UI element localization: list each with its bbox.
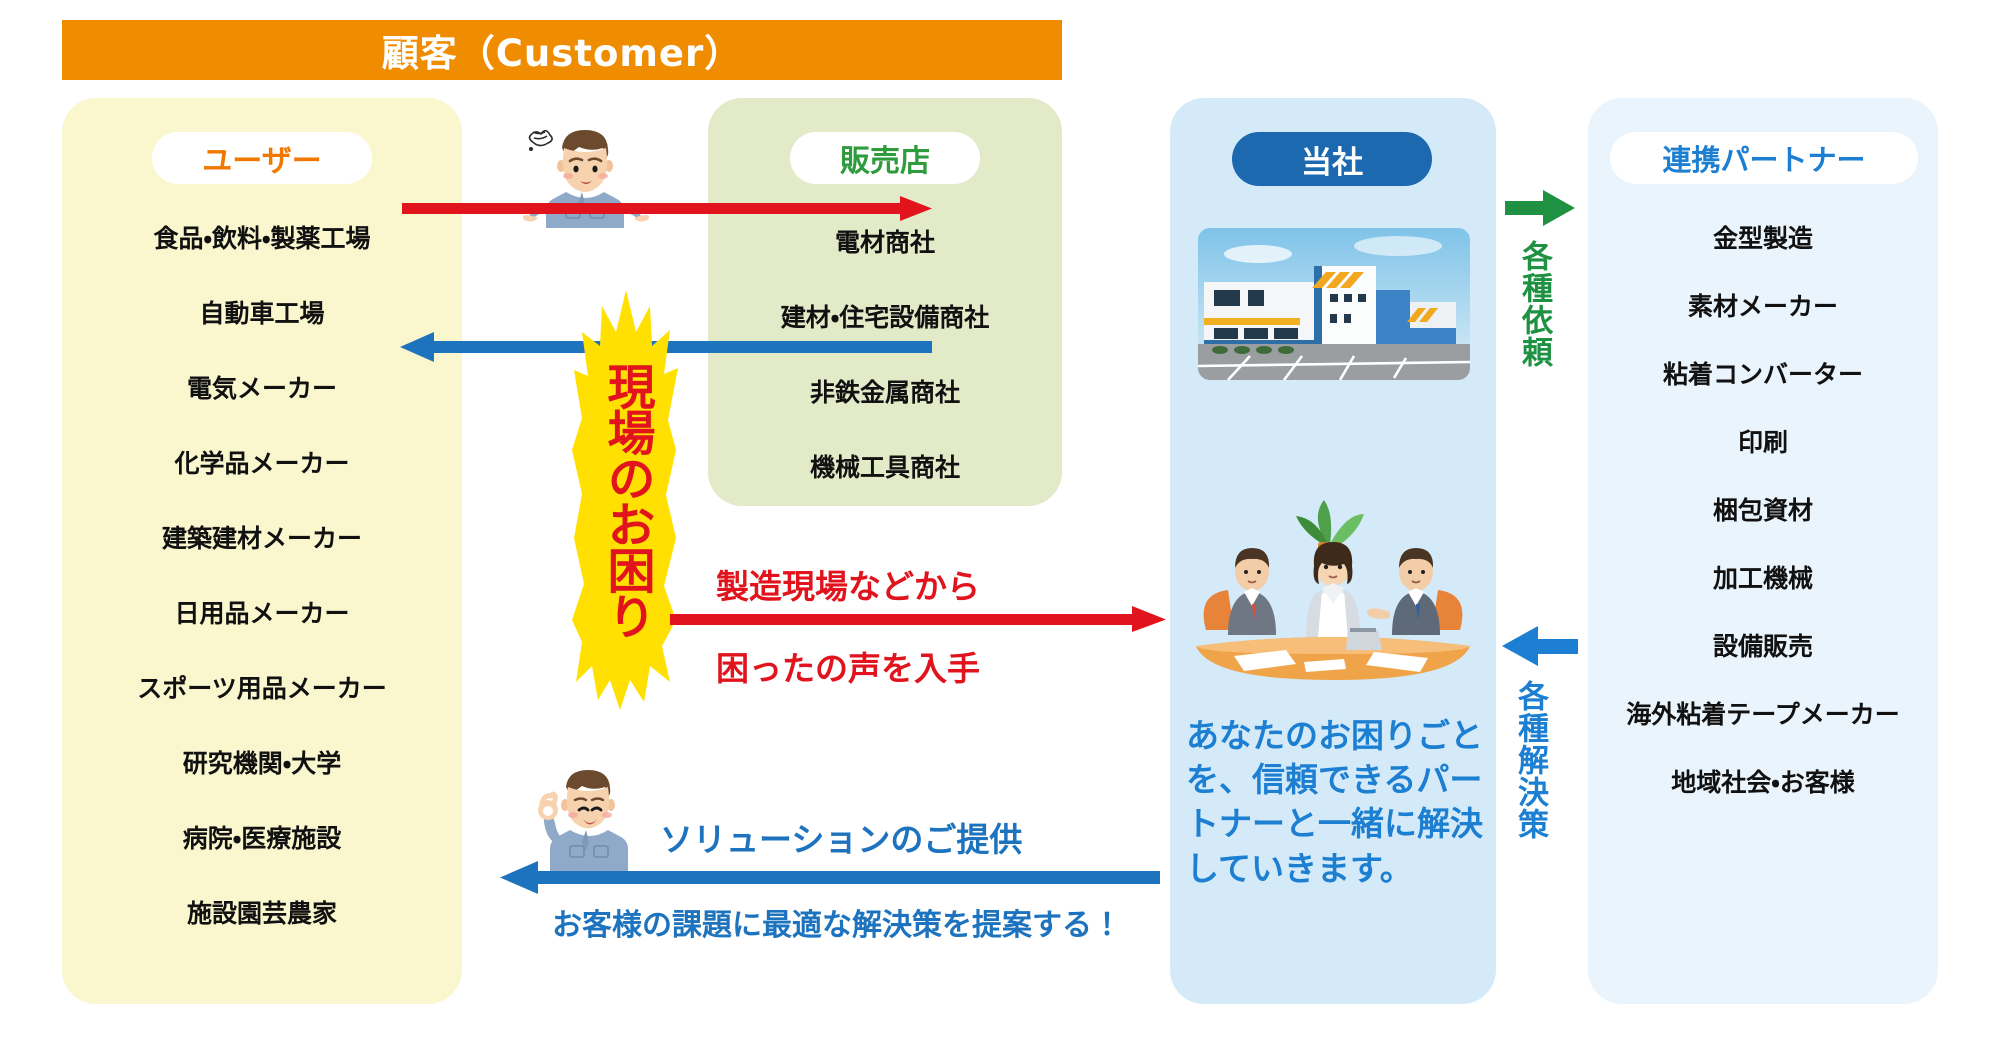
solution-label: 各種解決策 xyxy=(1508,680,1553,940)
onsite-trouble-burst: 現場のお困り xyxy=(572,290,680,710)
onsite-trouble-text: 現場のお困り xyxy=(572,290,680,710)
list-item: 電気メーカー xyxy=(62,376,462,401)
list-item: 施設園芸農家 xyxy=(62,901,462,926)
list-item: 加工機械 xyxy=(1588,566,1938,591)
list-item: 機械工具商社 xyxy=(708,455,1062,480)
arrow-right-red-icon xyxy=(402,193,932,223)
list-item: 非鉄金属商社 xyxy=(708,380,1062,405)
us-badge-label: 当社 xyxy=(1301,137,1363,182)
us-badge: 当社 xyxy=(1232,132,1432,186)
list-item: 化学品メーカー xyxy=(62,451,462,476)
list-item: 電材商社 xyxy=(708,230,1062,255)
list-item: 設備販売 xyxy=(1588,634,1938,659)
list-item: 研究機関・大学 xyxy=(62,751,462,776)
list-item: 建材・住宅設備商社 xyxy=(708,305,1062,330)
partner-list: 金型製造 素材メーカー 粘着コンバーター 印刷 梱包資材 加工機械 設備販売 海… xyxy=(1588,226,1938,838)
list-item: 粘着コンバーター xyxy=(1588,362,1938,387)
us-message: あなたのお困りごとを、信頼できるパートナーと一緒に解決していきます。 xyxy=(1186,714,1486,891)
list-item: 自動車工場 xyxy=(62,301,462,326)
arrow-left-blue-partner-icon xyxy=(1502,624,1578,668)
list-item: スポーツ用品メーカー xyxy=(62,676,462,701)
list-item: 素材メーカー xyxy=(1588,294,1938,319)
list-item: 金型製造 xyxy=(1588,226,1938,251)
list-item: 海外粘着テープメーカー xyxy=(1588,702,1938,727)
solution-text-line1: ソリューションのご提供 xyxy=(660,813,1022,861)
list-item: 日用品メーカー xyxy=(62,601,462,626)
user-badge: ユーザー xyxy=(152,132,372,184)
dealer-badge-label: 販売店 xyxy=(840,136,930,180)
business-meeting-illustration xyxy=(1178,480,1488,700)
partner-badge: 連携パートナー xyxy=(1610,132,1918,184)
customer-header-bar: 顧客（Customer） xyxy=(62,20,1062,80)
voice-arrow-red-icon xyxy=(670,605,1166,633)
factory-building-photo xyxy=(1198,228,1470,380)
arrow-right-green-icon xyxy=(1505,188,1575,228)
diagram-canvas: 顧客（Customer） ユーザー 販売店 当社 連携パートナー 食品・飲料・製… xyxy=(0,0,2000,1054)
dealer-list: 電材商社 建材・住宅設備商社 非鉄金属商社 機械工具商社 xyxy=(708,230,1062,530)
list-item: 建築建材メーカー xyxy=(62,526,462,551)
solution-text-line2: お客様の課題に最適な解決策を提案する！ xyxy=(552,900,1122,944)
ok-worker-icon xyxy=(530,760,650,872)
list-item: 病院・医療施設 xyxy=(62,826,462,851)
dealer-badge: 販売店 xyxy=(790,132,980,184)
voice-text-line1: 製造現場などから xyxy=(716,560,980,608)
voice-text-line2: 困ったの声を入手 xyxy=(716,642,980,690)
partner-badge-label: 連携パートナー xyxy=(1662,137,1865,179)
solution-arrow-blue-icon xyxy=(500,860,1160,894)
user-badge-label: ユーザー xyxy=(202,136,321,180)
list-item: 梱包資材 xyxy=(1588,498,1938,523)
list-item: 印刷 xyxy=(1588,430,1938,455)
customer-header-title: 顧客（Customer） xyxy=(382,23,743,77)
list-item: 食品・飲料・製薬工場 xyxy=(62,226,462,251)
request-label: 各種依頼 xyxy=(1512,240,1557,440)
list-item: 地域社会・お客様 xyxy=(1588,770,1938,795)
